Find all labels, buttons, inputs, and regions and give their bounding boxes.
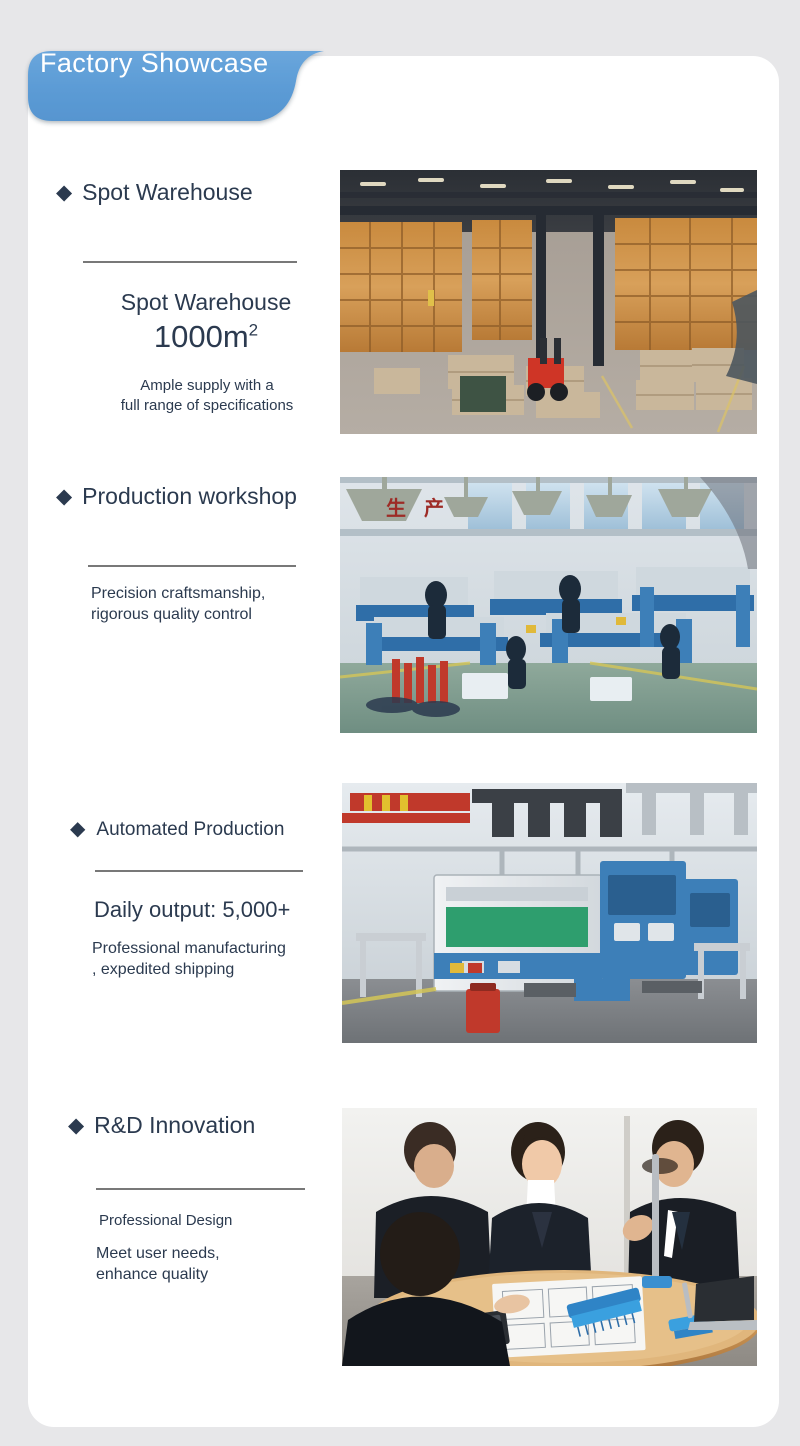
section-description: Meet user needs, enhance quality [96, 1243, 336, 1285]
svg-text:生: 生 [386, 497, 406, 520]
diamond-bullet-icon: ◆ [68, 1115, 84, 1136]
section-divider [83, 261, 297, 263]
section-spot-warehouse: ◆ Spot Warehouse Spot Warehouse 1000m2 A… [56, 181, 253, 204]
section-headline: Spot Warehouse [83, 289, 329, 316]
section-metric: 1000m2 [83, 321, 329, 352]
diamond-bullet-icon: ◆ [56, 486, 72, 507]
section-description: Ample supply with a full range of specif… [83, 376, 331, 416]
production-workshop-photo: 生产 [340, 477, 757, 733]
section-heading: ◆ Spot Warehouse [56, 181, 253, 204]
section-headline: Daily output: 5,000+ [94, 897, 290, 923]
section-subtitle: Professional Design [99, 1213, 232, 1228]
diamond-bullet-icon: ◆ [70, 819, 85, 839]
section-production-workshop: ◆ Production workshop Precision craftsma… [56, 485, 297, 508]
section-description: Precision craftsmanship, rigorous qualit… [91, 583, 321, 625]
automated-production-photo [342, 783, 757, 1043]
section-description: Professional manufacturing , expedited s… [92, 938, 354, 980]
section-divider [96, 1188, 305, 1190]
section-title: Automated Production [96, 820, 284, 839]
rd-innovation-photo [342, 1108, 757, 1366]
section-rd-innovation: ◆ R&D Innovation Professional Design Mee… [68, 1114, 255, 1137]
diamond-bullet-icon: ◆ [56, 182, 72, 203]
section-title: Spot Warehouse [82, 181, 252, 204]
banner-title: Factory Showcase [40, 50, 269, 77]
spot-warehouse-photo [340, 170, 757, 434]
metric-value: 1000m [154, 319, 249, 354]
svg-text:产: 产 [424, 496, 444, 520]
section-title: R&D Innovation [94, 1114, 255, 1137]
section-divider [88, 565, 296, 567]
section-heading: ◆ Automated Production [70, 819, 284, 839]
section-heading: ◆ Production workshop [56, 485, 297, 508]
section-title: Production workshop [82, 485, 297, 508]
metric-superscript: 2 [249, 321, 258, 340]
section-divider [95, 870, 303, 872]
section-heading: ◆ R&D Innovation [68, 1114, 255, 1137]
section-automated-production: ◆ Automated Production Daily output: 5,0… [70, 819, 284, 839]
